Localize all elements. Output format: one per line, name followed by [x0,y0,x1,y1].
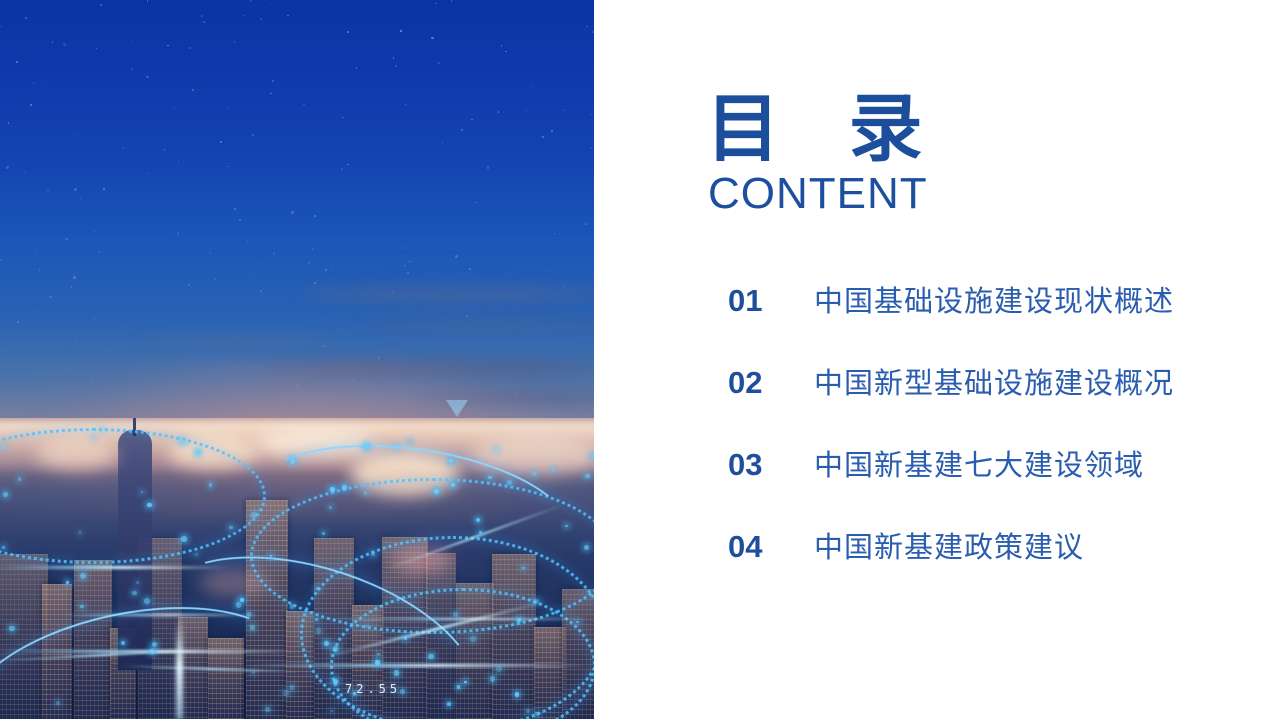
star-dot [252,134,254,136]
star-dot [87,333,89,335]
star-dot [342,117,344,119]
star-dot [30,104,32,106]
building [286,611,314,719]
tower-mast [133,418,136,436]
city-skyline: 72.55 [0,418,594,719]
building [74,560,112,719]
star-dot [210,252,212,254]
toc-item-number: 03 [728,447,814,483]
star-dot [250,0,252,2]
triangle-marker-icon [446,400,468,417]
star-dot [273,252,276,255]
light-pocket [168,436,258,470]
star-dot [49,296,52,299]
star-dot [451,0,453,2]
star-dot [455,255,458,258]
star-dot [260,18,262,20]
star-dot [412,131,414,133]
star-dot [170,232,172,234]
star-dot [227,108,229,110]
star-dot [400,247,402,249]
star-dot [395,65,398,68]
building [426,553,456,719]
star-dot [147,0,149,2]
toc-item-label: 中国新基建七大建设领域 [814,442,1144,484]
toc-item-03[interactable]: 03中国新基建七大建设领域 [728,442,1208,524]
star-dot [347,31,349,33]
star-dot [146,76,149,79]
star-dot [466,315,468,317]
light-pocket [255,430,375,458]
building [178,617,208,719]
star-dot [530,86,532,88]
star-dot [404,265,406,267]
star-dot [74,188,77,191]
star-dot [289,44,291,46]
star-dot [542,136,544,138]
star-dot [258,262,260,264]
star-dot [25,17,27,19]
star-dot [312,248,314,250]
light-pocket [200,568,270,598]
star-dot [501,45,503,47]
star-dot [8,122,10,124]
cloud-band [140,336,330,346]
table-of-contents: 01中国基础设施建设现状概述02中国新型基础设施建设概况03中国新基建七大建设领… [728,278,1208,606]
star-dot [75,340,77,342]
star-dot [403,340,405,342]
toc-item-label: 中国新基建政策建议 [814,524,1084,566]
star-dot [308,262,310,264]
star-dot [334,277,336,279]
star-dot [487,166,490,169]
star-dot [111,350,113,352]
star-dot [297,160,299,162]
star-dot [397,349,399,351]
star-dot [545,270,547,272]
star-dot [393,57,395,59]
star-dot [260,290,263,293]
star-dot [579,303,581,305]
star-dot [80,198,82,200]
toc-item-label: 中国基础设施建设现状概述 [814,278,1174,320]
star-dot [131,68,133,70]
toc-item-number: 04 [728,529,814,565]
star-dot [498,111,500,113]
star-dot [469,268,471,270]
star-dot [164,149,166,151]
star-dot [270,4,272,6]
star-dot [442,142,444,144]
star-dot [313,241,315,243]
star-dot [39,269,41,271]
star-dot [551,130,553,132]
star-dot [52,312,54,314]
star-dot [564,109,566,111]
star-dot [52,41,54,43]
star-dot [71,286,73,288]
star-dot [33,82,35,84]
star-dot [174,107,176,109]
star-dot [266,290,268,292]
toc-item-04[interactable]: 04中国新基建政策建议 [728,524,1208,606]
building [456,583,494,719]
star-dot [343,322,345,324]
star-dot [526,110,528,112]
star-dot [405,104,407,106]
star-dot [438,62,440,64]
star-dot [188,284,190,286]
building [352,605,384,719]
star-dot [562,285,565,288]
star-dot [461,129,463,131]
star-dot [239,219,241,221]
star-dot [240,307,242,309]
star-dot [378,356,381,359]
star-dot [400,30,402,32]
star-dot [6,166,9,169]
star-dot [314,215,316,217]
star-dot [234,41,236,43]
light-pocket [392,546,452,574]
star-dot [35,250,37,252]
hero-image-panel: 72.55 [0,0,594,719]
cloud-band [300,286,594,302]
presentation-slide: 72.55 目 录 CONTENT 01中国基础设施建设现状概述02中国新型基础… [0,0,1279,719]
star-dot [17,321,19,323]
star-dot [130,41,132,43]
star-dot [103,188,105,190]
star-dot [178,161,180,163]
star-dot [96,48,98,50]
toc-item-02[interactable]: 02中国新型基础设施建设概况 [728,360,1208,442]
light-pocket [350,452,460,496]
star-dot [220,141,222,143]
star-dot [471,119,473,121]
star-dot [123,147,125,149]
light-pocket [36,440,116,470]
toc-item-label: 中国新型基础设施建设概况 [814,360,1174,402]
star-dot [331,268,333,270]
star-dot [341,168,344,171]
content-panel: 目 录 CONTENT 01中国基础设施建设现状概述02中国新型基础设施建设概况… [594,0,1279,719]
toc-item-number: 01 [728,283,814,319]
star-dot [73,276,76,279]
star-dot [0,259,2,261]
star-dot [291,211,294,214]
star-dot [94,230,96,232]
star-dot [227,166,229,168]
building [492,554,536,719]
star-dot [16,61,18,63]
star-dot [98,252,100,254]
building [0,554,48,719]
star-dot [29,11,31,13]
star-dot [287,15,289,17]
star-dot [356,67,358,69]
title-block: 目 录 CONTENT [706,92,947,216]
star-dot [407,272,409,274]
star-dot [303,104,305,106]
star-dot [234,208,236,210]
star-dot [314,282,316,284]
toc-item-number: 02 [728,365,814,401]
building [42,584,72,719]
star-dot [247,241,249,243]
star-dot [243,15,245,17]
star-dot [76,134,78,136]
star-dot [214,278,217,281]
star-dot [586,26,588,28]
star-dot [590,147,592,149]
star-dot [257,322,259,324]
star-dot [591,114,593,116]
building [208,638,244,719]
star-dot [269,280,271,282]
star-dot [322,345,325,348]
page-title-en: CONTENT [708,172,947,216]
star-dot [505,51,507,53]
star-dot [431,37,434,40]
page-title-cn: 目 录 [706,92,947,166]
star-dot [192,89,194,91]
star-dot [177,232,180,235]
star-dot [0,26,2,28]
star-dot [201,15,203,17]
star-dot [270,93,272,95]
star-dot [415,238,417,240]
star-dot [435,3,437,5]
star-dot [147,173,149,175]
star-dot [47,190,49,192]
star-dot [38,311,40,313]
star-dot [123,324,125,326]
star-dot [409,261,411,263]
star-dot [167,45,169,47]
star-dot [203,21,205,23]
star-dot [40,80,42,82]
star-dot [94,317,96,319]
star-dot [585,223,587,225]
star-dot [65,238,68,241]
star-dot [554,233,556,235]
building [246,500,288,719]
star-dot [24,172,26,174]
star-dot [5,288,7,290]
star-dot [178,251,180,253]
star-dot [347,164,349,166]
star-dot [475,202,477,204]
star-dot [63,43,66,46]
star-dot [100,4,102,6]
hud-readout: 72.55 [345,682,401,696]
star-dot [189,47,191,49]
light-pocket [470,438,594,476]
toc-item-01[interactable]: 01中国基础设施建设现状概述 [728,278,1208,360]
star-dot [325,269,327,271]
star-dot [272,80,274,82]
building [562,589,594,719]
landmark-tower [118,430,152,670]
